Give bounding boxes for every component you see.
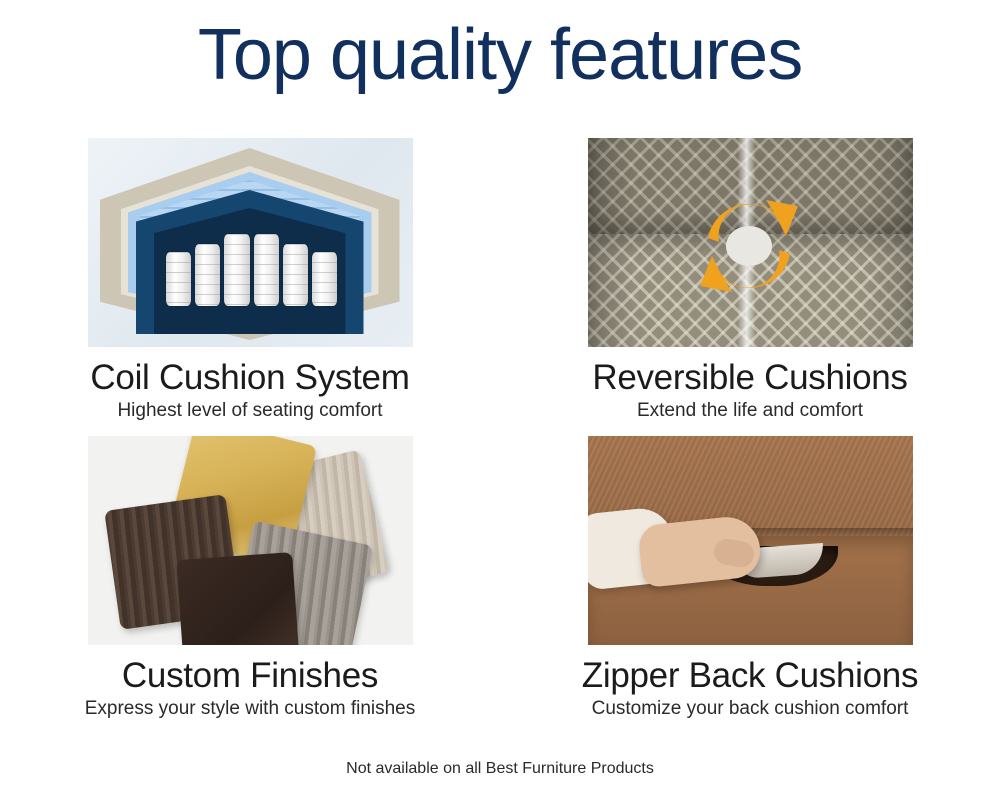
feature-card-custom-finishes[interactable]: Custom Finishes Express your style with … [0, 436, 500, 720]
feature-subtitle: Highest level of seating comfort [117, 400, 382, 422]
feature-subtitle: Customize your back cushion comfort [592, 698, 909, 720]
feature-row-2: Custom Finishes Express your style with … [0, 436, 1000, 720]
photo-shadow-right [867, 138, 913, 347]
circular-arrows-icon [694, 194, 804, 298]
photo-shadow-left [588, 138, 634, 347]
feature-subtitle: Extend the life and comfort [637, 400, 863, 422]
feature-card-zipper-back-cushions[interactable]: Zipper Back Cushions Customize your back… [500, 436, 1000, 720]
custom-finishes-swatches-photo [88, 436, 413, 645]
feature-title: Coil Cushion System [90, 357, 409, 399]
coil-spring [312, 252, 337, 306]
coil-spring-row [166, 226, 338, 306]
coil-spring [283, 244, 308, 306]
coil-spring [166, 252, 191, 306]
coil-spring [224, 234, 249, 306]
coil-spring [195, 244, 220, 306]
page-title: Top quality features [0, 14, 1000, 96]
footnote: Not available on all Best Furniture Prod… [0, 760, 1000, 778]
reversible-cushions-photo [588, 138, 913, 347]
feature-card-coil-cushion-system[interactable]: Coil Cushion System Highest level of sea… [0, 138, 500, 422]
zipper-back-cushion-photo [588, 436, 913, 645]
finish-swatch-espresso [176, 552, 299, 645]
feature-page: Top quality features [0, 0, 1000, 800]
feature-title: Reversible Cushions [592, 357, 907, 399]
feature-subtitle: Express your style with custom finishes [85, 698, 416, 720]
feature-row-1: Coil Cushion System Highest level of sea… [0, 138, 1000, 422]
coil-spring [254, 234, 279, 306]
coil-cushion-cutaway-illustration [88, 138, 413, 347]
feature-title: Zipper Back Cushions [582, 655, 918, 697]
feature-title: Custom Finishes [122, 655, 378, 697]
feature-card-reversible-cushions[interactable]: Reversible Cushions Extend the life and … [500, 138, 1000, 422]
feature-grid: Coil Cushion System Highest level of sea… [0, 138, 1000, 720]
